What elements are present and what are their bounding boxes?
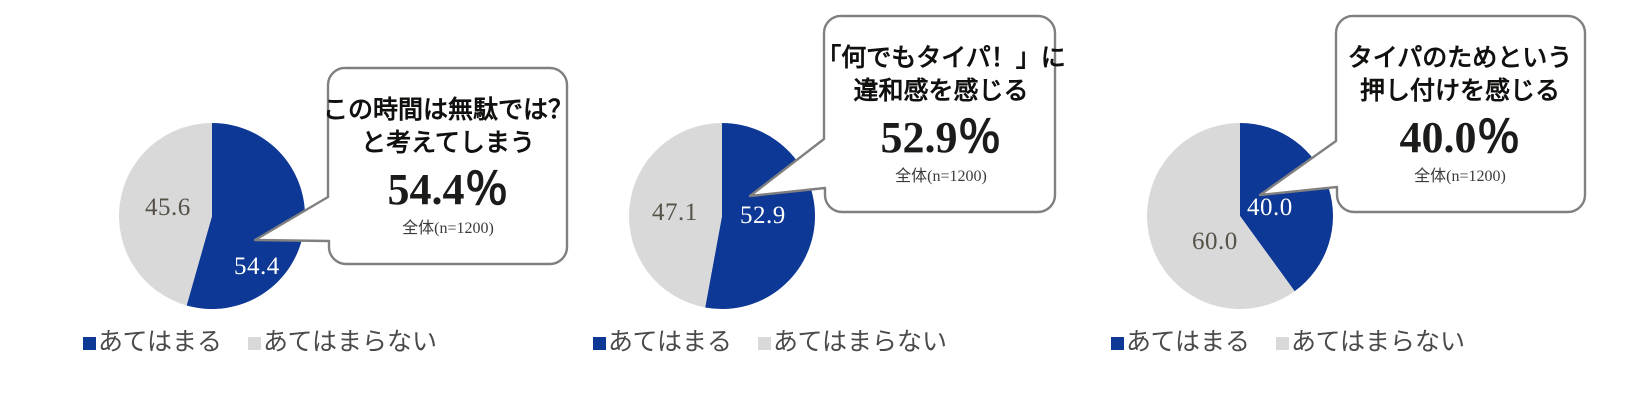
legend-item-not-applies[interactable]: あてはまらない xyxy=(248,330,437,355)
legend-item-not-applies[interactable]: あてはまらない xyxy=(1276,330,1465,355)
callout-bubble-1: この時間は無駄では？ と考えてしまう 54.4％ 全体(n=1200) xyxy=(250,55,580,280)
legend-label-applies: あてはまる xyxy=(608,330,732,355)
pie-chart-figure: 54.4 45.6 あてはまる あてはまらない 52.9 47.1 xyxy=(0,0,1628,400)
callout-text-3: タイパのためという 押し付けを感じる 40.0％ 全体(n=1200) xyxy=(1337,19,1583,211)
legend-swatch-applies-icon xyxy=(1111,337,1124,350)
legend-label-not-applies: あてはまらない xyxy=(773,330,947,355)
callout-line-2: 押し付けを感じる xyxy=(1360,75,1560,108)
callout-line-2: と考えてしまう xyxy=(361,127,535,160)
legend-swatch-applies-icon xyxy=(593,337,606,350)
callout-line-1: 「何でもタイパ！」に xyxy=(816,42,1066,75)
callout-percent: 40.0％ xyxy=(1400,112,1521,164)
legend-swatch-not-applies-icon xyxy=(248,337,261,350)
callout-base: 全体(n=1200) xyxy=(402,218,494,240)
callout-percent: 54.4％ xyxy=(388,164,509,216)
pie-slice-not-applies[interactable] xyxy=(629,123,722,307)
legend-item-applies[interactable]: あてはまる xyxy=(1111,330,1250,355)
legend-label-applies: あてはまる xyxy=(98,330,222,355)
callout-base: 全体(n=1200) xyxy=(895,166,987,188)
legend-swatch-not-applies-icon xyxy=(1276,337,1289,350)
callout-text-2: 「何でもタイパ！」に 違和感を感じる 52.9％ 全体(n=1200) xyxy=(825,19,1057,211)
legend-2: あてはまる あてはまらない xyxy=(510,330,1030,355)
callout-line-2: 違和感を感じる xyxy=(853,75,1028,108)
callout-percent: 52.9％ xyxy=(881,112,1002,164)
legend-item-applies[interactable]: あてはまる xyxy=(83,330,222,355)
callout-line-1: タイパのためという xyxy=(1348,42,1573,75)
callout-base: 全体(n=1200) xyxy=(1414,166,1506,188)
legend-1: あてはまる あてはまらない xyxy=(0,330,520,355)
legend-label-not-applies: あてはまらない xyxy=(1291,330,1465,355)
callout-line-1: この時間は無駄では？ xyxy=(323,94,573,127)
legend-label-not-applies: あてはまらない xyxy=(263,330,437,355)
legend-3: あてはまる あてはまらない xyxy=(1028,330,1548,355)
legend-swatch-applies-icon xyxy=(83,337,96,350)
callout-text-1: この時間は無駄では？ と考えてしまう 54.4％ 全体(n=1200) xyxy=(328,69,568,265)
callout-bubble-2: 「何でもタイパ！」に 違和感を感じる 52.9％ 全体(n=1200) xyxy=(745,5,1065,225)
callout-bubble-3: タイパのためという 押し付けを感じる 40.0％ 全体(n=1200) xyxy=(1255,5,1590,225)
legend-item-not-applies[interactable]: あてはまらない xyxy=(758,330,947,355)
legend-swatch-not-applies-icon xyxy=(758,337,771,350)
legend-label-applies: あてはまる xyxy=(1126,330,1250,355)
legend-item-applies[interactable]: あてはまる xyxy=(593,330,732,355)
